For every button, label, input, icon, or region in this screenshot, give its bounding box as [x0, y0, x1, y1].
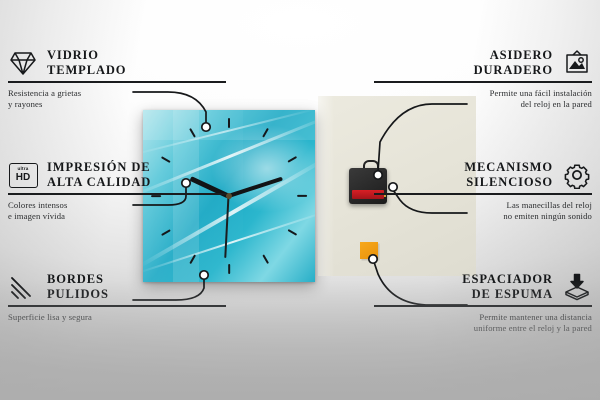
feature-title: ASIDERO DURADERO	[474, 48, 553, 78]
feature-header: ultra HD IMPRESIÓN DE ALTA CALIDAD	[8, 160, 226, 190]
divider	[374, 305, 592, 307]
feature-title: IMPRESIÓN DE ALTA CALIDAD	[47, 160, 151, 190]
divider	[374, 193, 592, 195]
hour-tick	[287, 156, 297, 163]
ultra-hd-icon: ultra HD	[8, 160, 38, 190]
hour-tick	[297, 195, 307, 197]
divider	[8, 305, 226, 307]
feature-title: VIDRIO TEMPLADO	[47, 48, 126, 78]
hour-tick	[262, 254, 269, 264]
feature-header: BORDES PULIDOS	[8, 272, 226, 302]
feature-header: VIDRIO TEMPLADO	[8, 48, 226, 78]
feature-title: MECANISMO SILENCIOSO	[464, 160, 553, 190]
divider	[374, 81, 592, 83]
hour-tick	[287, 229, 297, 236]
divider	[8, 193, 226, 195]
clock-hub	[226, 193, 232, 199]
feature-impresion-alta-calidad: ultra HD IMPRESIÓN DE ALTA CALIDAD Color…	[8, 160, 226, 222]
diamond-icon	[8, 48, 38, 78]
feature-header: MECANISMO SILENCIOSO	[374, 160, 592, 190]
foam-spacer-icon	[562, 272, 592, 302]
feature-asidero-duradero: ASIDERO DURADERO Permite una fácil insta…	[374, 48, 592, 110]
feature-bordes-pulidos: BORDES PULIDOS Superficie lisa y segura	[8, 272, 226, 323]
feature-header: ESPACIADOR DE ESPUMA	[374, 272, 592, 302]
feature-vidrio-templado: VIDRIO TEMPLADO Resistencia a grietas y …	[8, 48, 226, 110]
foam-spacer	[360, 242, 378, 259]
hanging-frame-icon	[562, 48, 592, 78]
gear-icon	[562, 160, 592, 190]
feature-title: ESPACIADOR DE ESPUMA	[462, 272, 553, 302]
infographic-canvas: VIDRIO TEMPLADO Resistencia a grietas y …	[0, 0, 600, 400]
hour-tick	[228, 264, 230, 274]
feature-title: BORDES PULIDOS	[47, 272, 109, 302]
hour-tick	[228, 118, 230, 128]
feature-espaciador-de-espuma: ESPACIADOR DE ESPUMA Permite mantener un…	[374, 272, 592, 334]
feature-mecanismo-silencioso: MECANISMO SILENCIOSO Las manecillas del …	[374, 160, 592, 222]
polished-edges-icon	[8, 272, 38, 302]
divider	[8, 81, 226, 83]
feature-header: ASIDERO DURADERO	[374, 48, 592, 78]
